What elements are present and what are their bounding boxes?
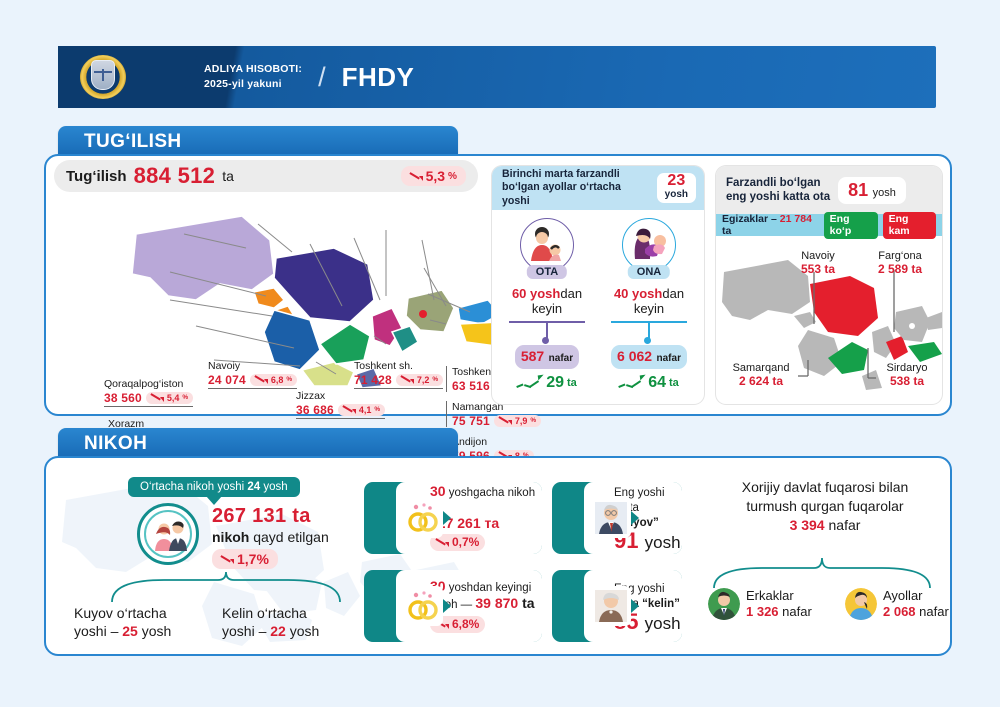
foreign-marriages-block: Xorijiy davlat fuqarosi bilan turmush qu… [700,478,950,535]
oldest-bride-card: Eng yoshi katta “kelin” 85 yosh [552,570,682,642]
emblem-container [58,46,178,108]
marriage-total-value: 267 131 ta [212,505,329,528]
arrow-up-icon [619,376,645,390]
father-growth: 29 ta [496,374,598,392]
header-text-group: ADLIYA HISOBOTI: 2025-yil yakuni / FHDY [204,46,414,108]
header-kicker: ADLIYA HISOBOTI: 2025-yil yakuni [204,62,302,92]
couple-avatar-icon [137,503,199,565]
header-separator: / [318,62,326,93]
mother-column: ONA 40 yoshdan keyin 6 062 nafar 64 ta [598,218,700,392]
father-connector [509,321,585,341]
birth-total-label: Tug‘ilish [66,168,127,185]
foreign-women-text: Ayollar 2 068 nafar [883,588,949,620]
twins-label-fargona: Farg‘ona 2 589 ta [860,250,940,276]
marriage-total-sub: nikoh qayd etilgan [212,529,329,545]
oldest-father-title: Farzandli bo‘lgan eng yoshi katta ota [726,176,830,204]
birth-total-bar: Tug‘ilish 884 512 ta 5,3% [54,160,478,192]
father-age-text: 60 yoshdan keyin [496,286,598,316]
oldest-father-header: Farzandli bo‘lgan eng yoshi katta ota 81… [716,166,942,214]
twins-label-sirdaryo: Sirdaryo 538 ta [872,362,942,388]
mother-age-text: 40 yoshdan keyin [598,286,700,316]
mother-growth: 64 ta [598,374,700,392]
wedding-rings-icon [403,586,443,626]
mother-avatar-icon: ONA [622,218,676,272]
twins-map-area: Navoiy 553 ta Farg‘ona 2 589 ta Samarqan… [716,236,942,404]
first-child-body: OTA 60 yoshdan keyin 587 nafar 29 ta [492,210,704,392]
average-marriage-age-bubble: O‘rtacha nikoh yoshi 24 yosh [128,477,300,497]
page-header: ADLIYA HISOBOTI: 2025-yil yakuni / FHDY [58,46,936,108]
oldest-groom-card: Eng yoshi katta “kuyov” 91 yosh [552,482,682,554]
groom-average-age: Kuyov o‘rtacha yoshi – 25 yosh [74,604,171,640]
foreign-men-row: Erkaklar 1 326 nafar [708,588,812,620]
elder-man-icon [591,498,631,538]
infographic-canvas: ADLIYA HISOBOTI: 2025-yil yakuni / FHDY … [0,0,1000,707]
foreign-title: Xorijiy davlat fuqarosi bilan turmush qu… [700,478,950,535]
twins-label-navoiy: Navoiy 553 ta [778,250,858,276]
birth-total-value: 884 512 [134,163,216,189]
first-child-title: Birinchi marta farzandli bo‘lgan ayollar… [502,168,651,209]
foreign-brace [710,556,940,590]
marriage-total: 267 131 ta nikoh qayd etilgan 1,7% [212,505,329,569]
arrow-up-icon [517,376,543,390]
father-count-pill: 587 nafar [515,345,579,369]
father-column: OTA 60 yoshdan keyin 587 nafar 29 ta [496,218,598,392]
region-label-qoraqalpogiston: Qoraqalpog‘iston 38 560 5,4% [104,378,193,407]
birth-total-change: 5,3% [401,166,466,186]
father-avatar-icon: OTA [520,218,574,272]
man-avatar-icon [708,588,740,620]
twins-strip: Egizaklar – 21 784 ta Eng ko‘p Eng kam [716,214,942,236]
father-chip: OTA [527,265,567,279]
groom-bride-brace [108,570,348,604]
first-child-age-badge: 23 yosh [657,173,696,203]
region-label-jizzax: Jizzax 36 686 4,1% [296,390,385,419]
marriage-card-over30: 30 yoshdan keyingi nikoh — 39 870 ta 6,8… [364,570,542,642]
marriage-total-change: 1,7% [212,549,278,569]
first-child-card: Birinchi marta farzandli bo‘lgan ayollar… [492,166,704,404]
legend-chip-least: Eng kam [883,212,936,239]
bride-average-age: Kelin o‘rtacha yoshi – 22 yosh [222,604,319,640]
twins-label-samarqand: Samarqand 2 624 ta [718,362,804,388]
twins-strip-label: Egizaklar – 21 784 ta [722,213,819,237]
elder-woman-icon [591,586,631,626]
twins-card: Farzandli bo‘lgan eng yoshi katta ota 81… [716,166,942,404]
mother-chip: ONA [628,265,670,279]
foreign-women-row: Ayollar 2 068 nafar [845,588,949,620]
page-title: FHDY [342,62,415,93]
foreign-men-text: Erkaklar 1 326 nafar [746,588,812,620]
marriage-card-under30: 30 yoshgacha nikoh – 227 261 та 0,7% [364,482,542,554]
oldest-father-badge: 81 yosh [838,177,906,204]
region-label-namangan: Namangan 75 751 7,9% [446,401,541,427]
arrow-down-icon [410,172,423,181]
birth-total-unit: ta [222,168,234,184]
woman-avatar-icon [845,588,877,620]
legend-chip-most: Eng ko‘p [824,212,878,239]
region-label-navoiy: Navoiy 24 074 6,8% [208,360,297,389]
mother-connector [611,321,687,341]
first-child-header: Birinchi marta farzandli bo‘lgan ayollar… [492,166,704,210]
justice-emblem-icon [80,55,126,99]
mother-count-pill: 6 062 nafar [611,345,687,369]
region-label-toshkent-shahri: Toshkent sh. 71 428 7,2% [354,360,443,389]
wedding-rings-icon [403,498,443,538]
